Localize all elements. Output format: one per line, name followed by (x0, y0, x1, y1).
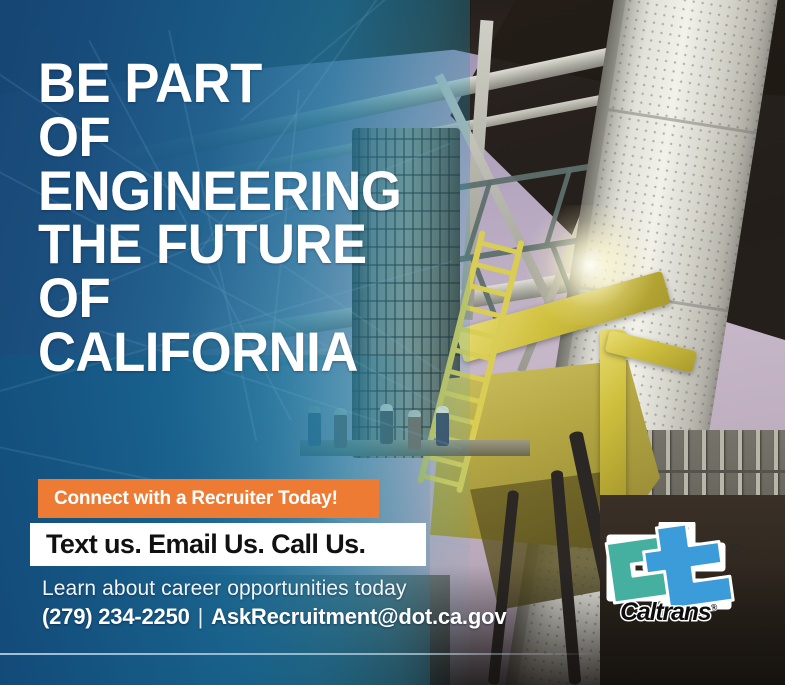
learn-more-label: Learn about career opportunities today (42, 577, 407, 601)
recruiter-cta-banner[interactable]: Connect with a Recruiter Today! (38, 479, 379, 518)
caltrans-recruitment-ad: BE PART OF ENGINEERING THE FUTURE OF CAL… (0, 0, 785, 685)
contact-line: (279) 234-2250|AskRecruitment@dot.ca.gov (42, 604, 506, 630)
footer-divider (0, 653, 600, 655)
caltrans-logo: R Caltrans® (588, 522, 748, 644)
phone-number[interactable]: (279) 234-2250 (42, 604, 190, 629)
recruiter-cta-label: Connect with a Recruiter Today! (54, 488, 338, 510)
headline-line-1: BE PART (38, 56, 401, 110)
caltrans-wordmark: Caltrans® (588, 598, 748, 627)
headline-line-5: OF (38, 271, 401, 325)
headline-line-2: OF (38, 110, 401, 164)
contact-separator: | (198, 604, 204, 629)
email-address[interactable]: AskRecruitment@dot.ca.gov (211, 604, 506, 629)
headline-line-3: ENGINEERING (38, 164, 401, 218)
caltrans-wordmark-text: Caltrans (620, 598, 710, 626)
headline-line-4: THE FUTURE (38, 217, 401, 271)
contact-methods-box: Text us. Email Us. Call Us. (30, 523, 426, 566)
registered-mark: ® (711, 603, 716, 613)
contact-methods-label: Text us. Email Us. Call Us. (46, 529, 365, 560)
svg-text:R: R (734, 547, 738, 553)
headline-line-6: CALIFORNIA (38, 325, 401, 379)
page-title: BE PART OF ENGINEERING THE FUTURE OF CAL… (38, 56, 401, 379)
